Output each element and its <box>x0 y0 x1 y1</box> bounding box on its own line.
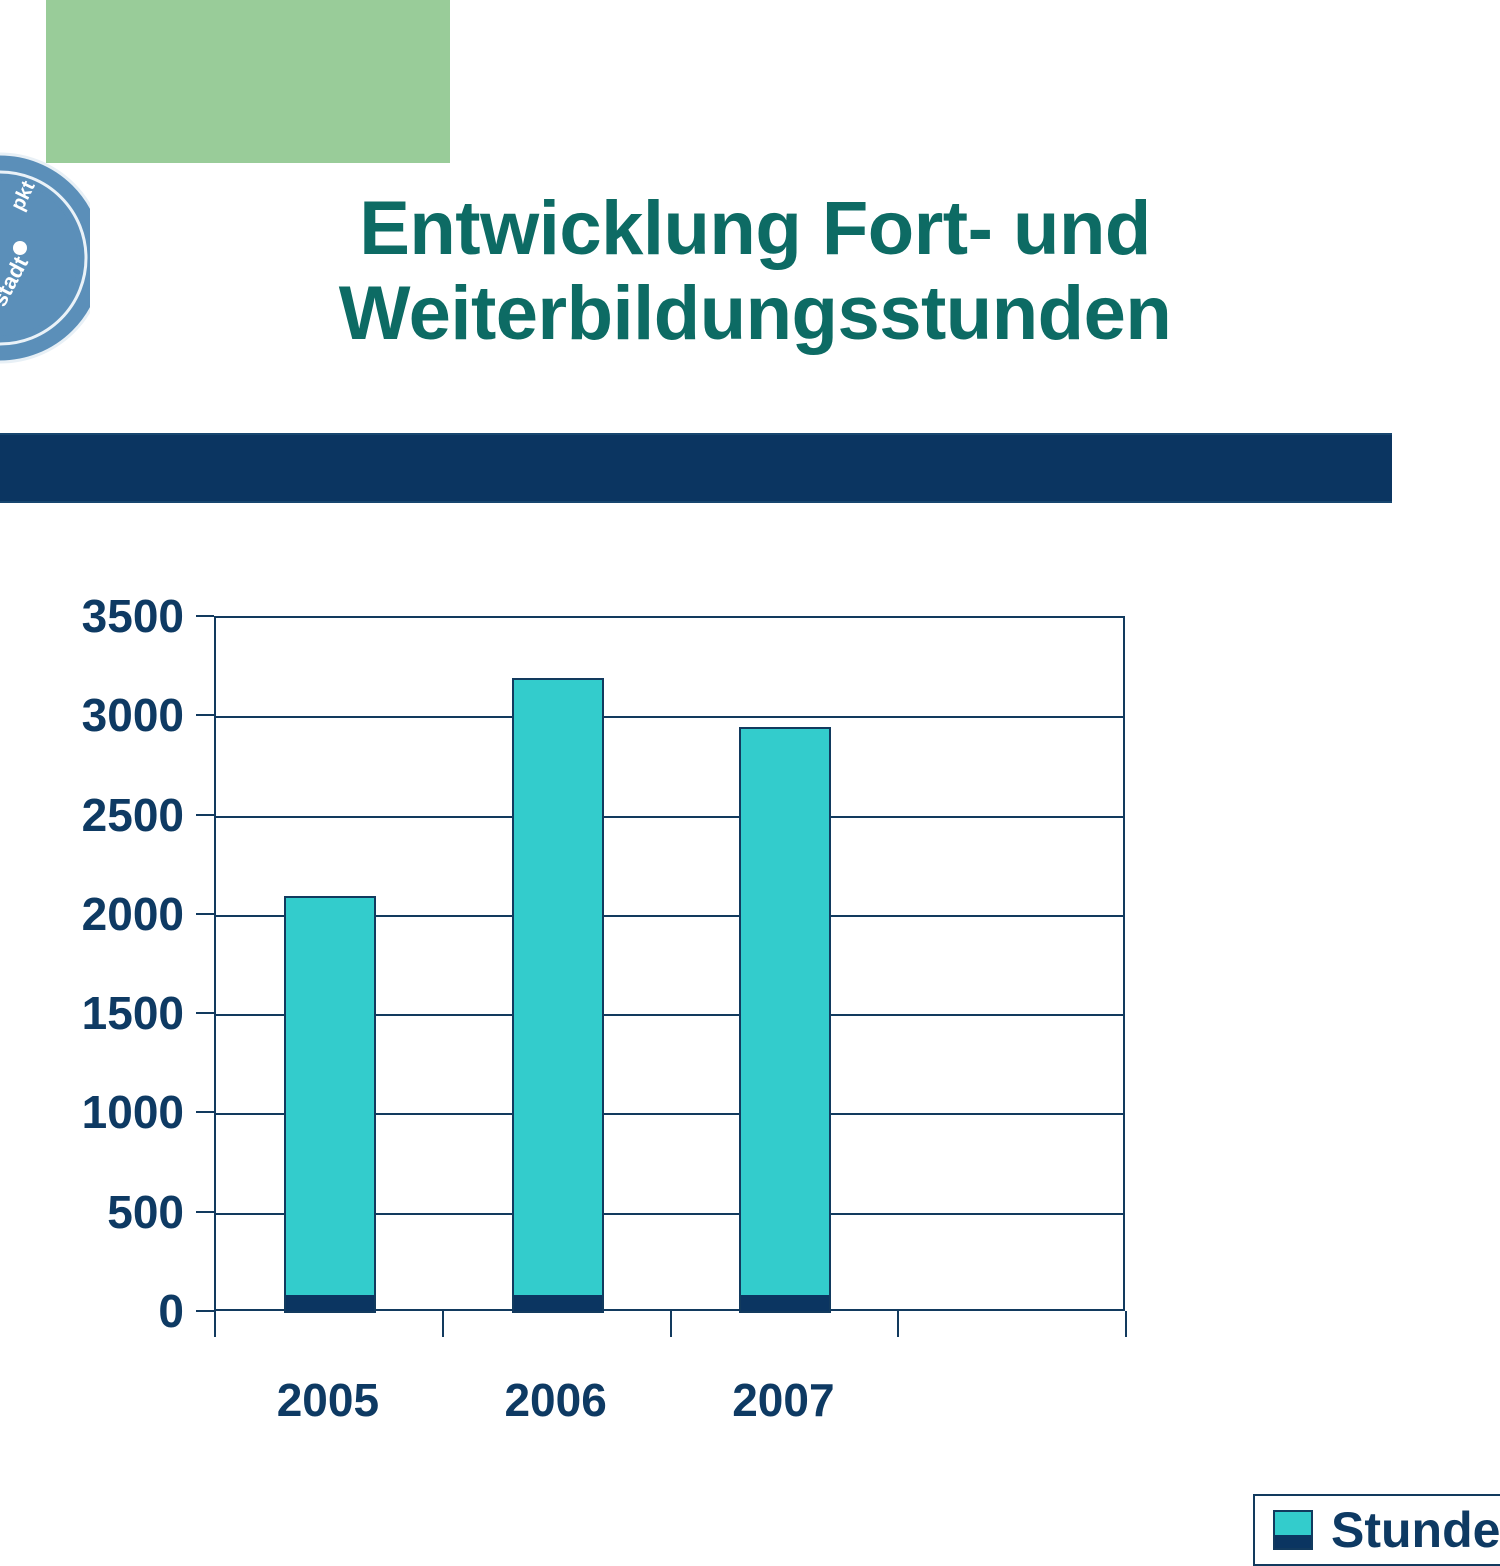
gridline-2500 <box>216 816 1123 818</box>
slide-title: Entwicklung Fort- und Weiterbildungsstun… <box>120 186 1390 356</box>
y-axis-label-0: 0 <box>0 1288 184 1334</box>
plot-area <box>214 616 1125 1311</box>
header-accent-block <box>46 0 450 163</box>
y-axis-tick-1500 <box>196 1012 214 1014</box>
y-axis-tick-1000 <box>196 1111 214 1113</box>
x-axis-label-2007: 2007 <box>673 1373 893 1427</box>
y-axis-tick-2500 <box>196 814 214 816</box>
slide-title-line-1: Entwicklung Fort- und <box>120 186 1390 271</box>
bar-2006[interactable] <box>512 678 604 1313</box>
title-divider-band <box>0 433 1392 503</box>
x-axis-tick-0 <box>214 1311 216 1337</box>
bar-base <box>741 1295 829 1311</box>
legend-swatch-stunden <box>1273 1510 1313 1550</box>
y-axis-label-1500: 1500 <box>0 990 184 1036</box>
x-axis-tick-2 <box>670 1311 672 1337</box>
y-axis-label-3000: 3000 <box>0 692 184 738</box>
bar-chart: 0500100015002000250030003500200520062007… <box>0 560 1500 1460</box>
x-axis-tick-3 <box>897 1311 899 1337</box>
gridline-3000 <box>216 716 1123 718</box>
y-axis-tick-3000 <box>196 714 214 716</box>
y-axis-tick-2000 <box>196 913 214 915</box>
y-axis-label-500: 500 <box>0 1189 184 1235</box>
y-axis-label-2500: 2500 <box>0 792 184 838</box>
y-axis-tick-500 <box>196 1211 214 1213</box>
y-axis-label-1000: 1000 <box>0 1089 184 1135</box>
legend-swatch-base <box>1275 1535 1311 1548</box>
legend-label-stunden: Stunde <box>1331 1505 1500 1555</box>
bar-base <box>286 1295 374 1311</box>
y-axis-label-3500: 3500 <box>0 593 184 639</box>
y-axis-label-2000: 2000 <box>0 891 184 937</box>
slide-title-line-2: Weiterbildungsstunden <box>120 271 1390 356</box>
x-axis-label-2006: 2006 <box>446 1373 666 1427</box>
city-seal-logo: stadt pkt <box>0 148 90 368</box>
bar-2007[interactable] <box>739 727 831 1313</box>
bar-2005[interactable] <box>284 896 376 1313</box>
y-axis-tick-0 <box>196 1310 214 1312</box>
x-axis-tick-4 <box>1125 1311 1127 1337</box>
x-axis-tick-1 <box>442 1311 444 1337</box>
bar-base <box>514 1295 602 1311</box>
y-axis-tick-3500 <box>196 615 214 617</box>
chart-legend[interactable]: Stunde <box>1253 1494 1500 1566</box>
x-axis-label-2005: 2005 <box>218 1373 438 1427</box>
